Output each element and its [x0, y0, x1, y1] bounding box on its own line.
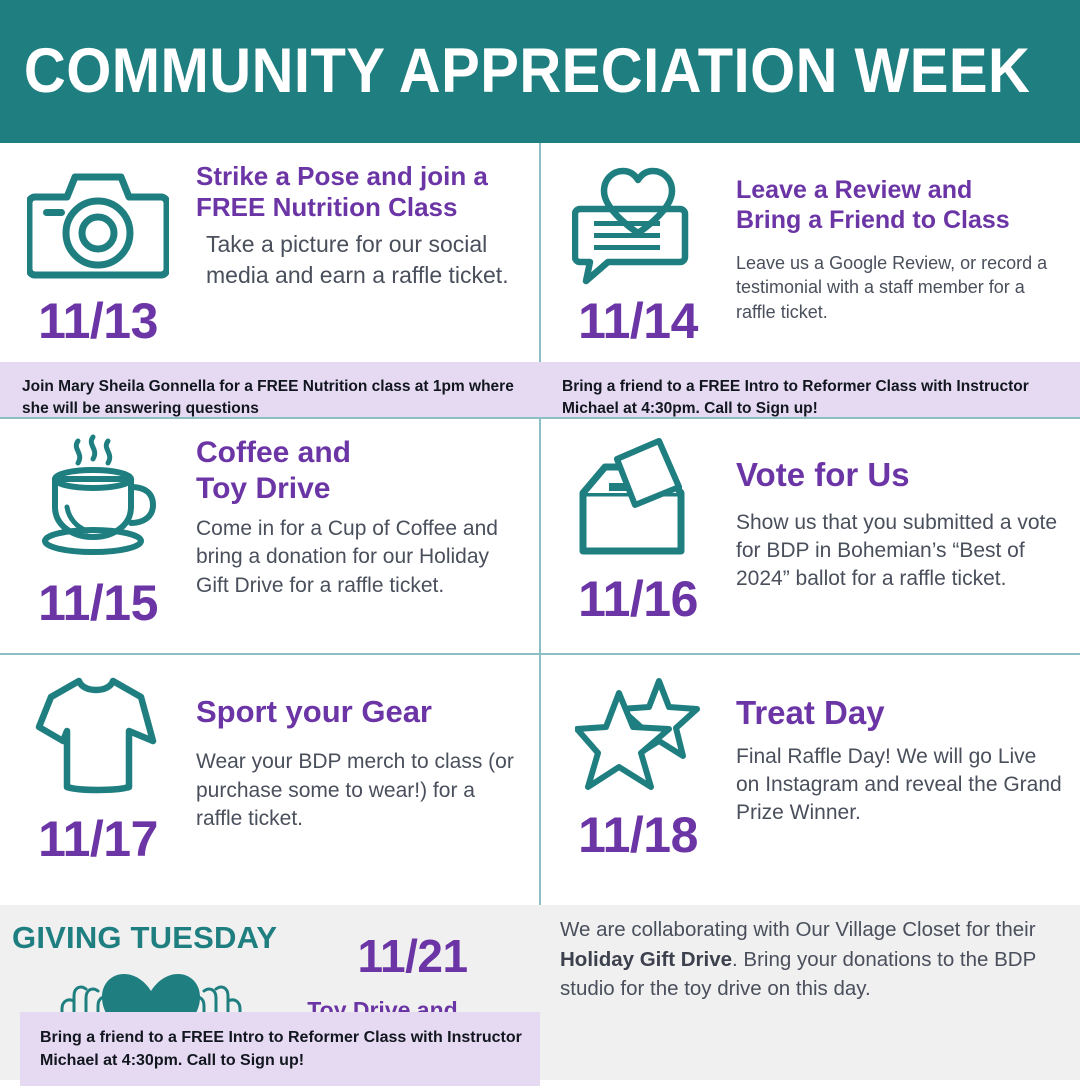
event-icon-column: 11/14 — [540, 161, 736, 346]
event-heading: Coffee and Toy Drive — [196, 431, 522, 507]
collaboration-text: We are collaborating with Our Village Cl… — [560, 915, 1075, 1004]
event-icon-column: 11/16 — [540, 431, 736, 624]
horizontal-divider-2 — [0, 653, 1080, 655]
event-heading-line2: Bring a Friend to Class — [736, 205, 1062, 235]
event-heading-line2: FREE Nutrition Class — [196, 192, 522, 223]
bottom-note-band: Bring a friend to a FREE Intro to Reform… — [20, 1012, 540, 1086]
event-note-band-1114: Bring a friend to a FREE Intro to Reform… — [540, 362, 1080, 417]
event-date: 11/16 — [578, 574, 698, 624]
event-note-text: Bring a friend to a FREE Intro to Reform… — [562, 376, 1062, 421]
collab-bold: Holiday Gift Drive — [560, 948, 732, 971]
event-card-1113[interactable]: 11/13 Strike a Pose and join a FREE Nutr… — [0, 161, 540, 361]
event-date: 11/18 — [578, 810, 698, 860]
giving-tuesday-title: GIVING TUESDAY — [12, 922, 277, 953]
event-date: 11/14 — [578, 296, 698, 346]
event-heading-line1: Sport your Gear — [196, 693, 522, 730]
event-body: Take a picture for our social media and … — [196, 229, 522, 291]
event-body: Wear your BDP merch to class (or purchas… — [196, 748, 522, 833]
event-date: 11/17 — [38, 814, 158, 864]
chat-heart-icon — [572, 161, 704, 290]
collab-prefix: We are collaborating with Our Village Cl… — [560, 918, 1036, 941]
event-text-column: Vote for Us Show us that you submitted a… — [736, 431, 1080, 594]
event-icon-column: 11/17 — [0, 671, 196, 864]
event-card-1116[interactable]: 11/16 Vote for Us Show us that you submi… — [540, 431, 1080, 651]
poster-header: COMMUNITY APPRECIATION WEEK — [0, 0, 1080, 143]
event-icon-column: 11/13 — [0, 161, 196, 346]
page-title: COMMUNITY APPRECIATION WEEK — [0, 40, 1030, 103]
event-heading: Treat Day — [736, 671, 1062, 733]
event-heading-line1: Vote for Us — [736, 455, 1062, 495]
bottom-note-text: Bring a friend to a FREE Intro to Reform… — [40, 1026, 524, 1072]
event-body: Come in for a Cup of Coffee and bring a … — [196, 515, 522, 600]
event-heading: Strike a Pose and join a FREE Nutrition … — [196, 161, 522, 223]
event-card-1114[interactable]: 11/14 Leave a Review and Bring a Friend … — [540, 161, 1080, 361]
event-date: 11/15 — [38, 578, 158, 628]
event-text-column: Leave a Review and Bring a Friend to Cla… — [736, 161, 1080, 324]
event-text-column: Coffee and Toy Drive Come in for a Cup o… — [196, 431, 540, 600]
event-date: 11/13 — [38, 296, 158, 346]
event-note-band-1113: Join Mary Sheila Gonnella for a FREE Nut… — [0, 362, 540, 417]
event-body: Show us that you submitted a vote for BD… — [736, 509, 1062, 594]
tshirt-icon — [35, 671, 161, 800]
giving-tuesday-date: 11/21 — [290, 933, 535, 979]
event-heading-line1: Strike a Pose and join a — [196, 161, 522, 192]
event-heading: Leave a Review and Bring a Friend to Cla… — [736, 161, 1062, 235]
event-heading-line2: Toy Drive — [196, 471, 522, 507]
stars-icon — [575, 671, 701, 796]
event-heading-line1: Coffee and — [196, 435, 522, 471]
events-grid: 11/13 Strike a Pose and join a FREE Nutr… — [0, 143, 1080, 905]
event-icon-column: 11/18 — [540, 671, 736, 860]
event-body: Leave us a Google Review, or record a te… — [736, 251, 1062, 324]
event-heading-line1: Leave a Review and — [736, 175, 1062, 205]
giving-tuesday-right: We are collaborating with Our Village Cl… — [540, 905, 1080, 1080]
event-note-text: Join Mary Sheila Gonnella for a FREE Nut… — [22, 376, 522, 421]
ballot-box-icon — [575, 431, 701, 562]
event-heading: Vote for Us — [736, 431, 1062, 495]
event-heading-line1: Treat Day — [736, 693, 1062, 733]
infographic-poster: COMMUNITY APPRECIATION WEEK 11/13 — [0, 0, 1080, 1080]
event-card-1117[interactable]: 11/17 Sport your Gear Wear your BDP merc… — [0, 671, 540, 896]
event-card-1118[interactable]: 11/18 Treat Day Final Raffle Day! We wil… — [540, 671, 1080, 896]
event-heading: Sport your Gear — [196, 671, 522, 730]
event-text-column: Strike a Pose and join a FREE Nutrition … — [196, 161, 540, 291]
camera-icon — [27, 161, 169, 288]
event-text-column: Treat Day Final Raffle Day! We will go L… — [736, 671, 1080, 828]
coffee-cup-icon — [33, 431, 163, 566]
event-icon-column: 11/15 — [0, 431, 196, 628]
event-text-column: Sport your Gear Wear your BDP merch to c… — [196, 671, 540, 833]
event-body: Final Raffle Day! We will go Live on Ins… — [736, 743, 1062, 828]
event-card-1115[interactable]: 11/15 Coffee and Toy Drive Come in for a… — [0, 431, 540, 651]
